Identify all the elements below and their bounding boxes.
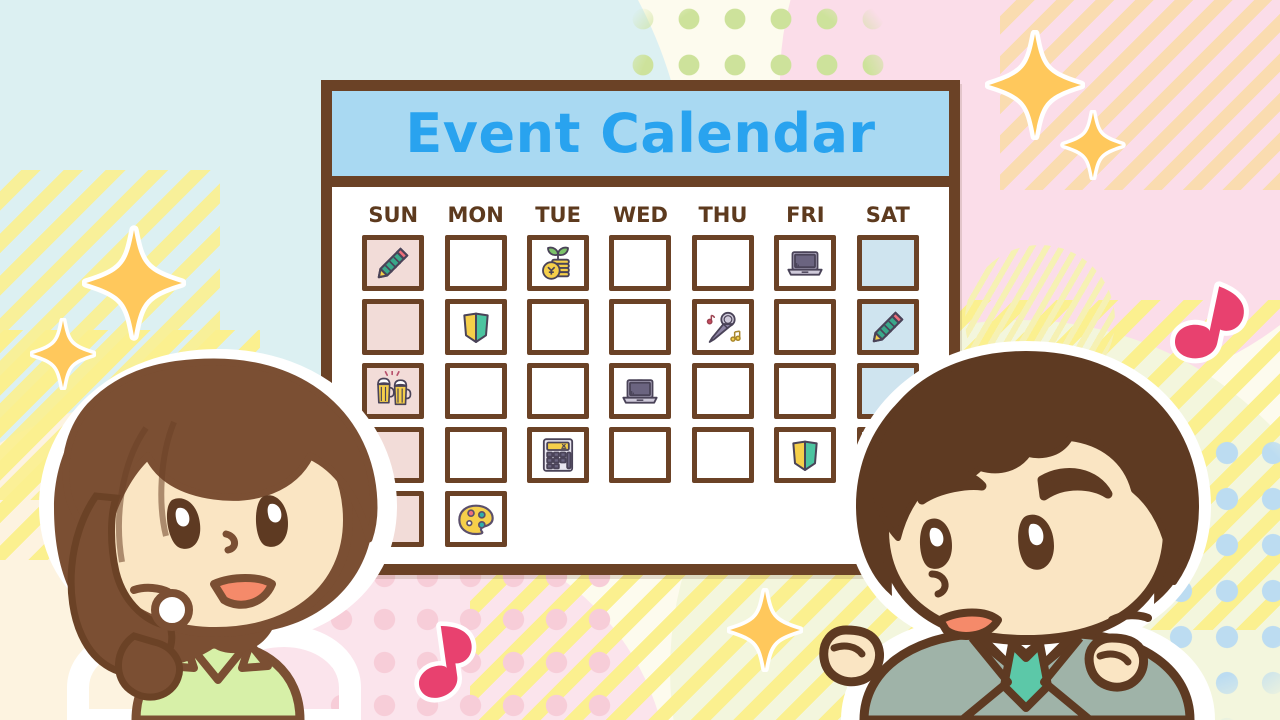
day-header-mon: MON — [434, 203, 516, 235]
calendar-cell-sat-w1[interactable] — [857, 235, 919, 291]
day-header-thu: THU — [682, 203, 764, 235]
calendar-cell-thu-w2[interactable] — [692, 299, 754, 355]
day-header-fri: FRI — [764, 203, 846, 235]
calendar-cell-mon-w2[interactable] — [445, 299, 507, 355]
calendar-cell-thu-w3[interactable] — [692, 363, 754, 419]
calendar-cell-wrapper — [434, 491, 516, 547]
calendar-cell-wrapper — [682, 363, 764, 419]
day-header-wed: WED — [599, 203, 681, 235]
calendar-cell-tue-w2[interactable] — [527, 299, 589, 355]
calendar-cell-sun-w1[interactable] — [362, 235, 424, 291]
calendar-cell-tue-w1[interactable] — [527, 235, 589, 291]
woman-character — [18, 336, 418, 720]
calendar-cell-mon-w1[interactable] — [445, 235, 507, 291]
pencil-icon — [373, 243, 413, 283]
calendar-cell-wrapper — [352, 235, 434, 291]
calendar-cell-mon-w5[interactable] — [445, 491, 507, 547]
money-sprout-icon — [538, 243, 578, 283]
calendar-cell-wrapper — [599, 235, 681, 291]
calendar-cell-wrapper — [434, 235, 516, 291]
man-character — [812, 338, 1232, 720]
calendar-cell-wrapper — [517, 363, 599, 419]
calendar-cell-wrapper — [517, 235, 599, 291]
day-header-sat: SAT — [847, 203, 929, 235]
calendar-cell-wrapper — [682, 427, 764, 483]
sparkle-icon — [82, 225, 186, 341]
calendar-cell-blank — [692, 491, 754, 547]
calendar-cell-wed-w3[interactable] — [609, 363, 671, 419]
calendar-cell-wrapper — [599, 427, 681, 483]
calendar-cell-wrapper — [599, 363, 681, 419]
calendar-cell-wed-w2[interactable] — [609, 299, 671, 355]
day-header-tue: TUE — [517, 203, 599, 235]
day-header-row: SUN MON TUE WED THU FRI SAT — [352, 203, 929, 235]
calendar-cell-wrapper — [434, 427, 516, 483]
calendar-title-band: Event Calendar — [332, 91, 949, 187]
sparkle-icon — [727, 588, 803, 672]
calendar-cell-tue-w3[interactable] — [527, 363, 589, 419]
calendar-cell-thu-w1[interactable] — [692, 235, 754, 291]
calendar-cell-wed-w4[interactable] — [609, 427, 671, 483]
calendar-cell-wrapper — [599, 491, 681, 547]
calendar-cell-blank — [609, 491, 671, 547]
microphone-icon — [703, 307, 743, 347]
screen-root: Event Calendar SUN MON TUE WED THU FRI S… — [0, 0, 1280, 720]
calendar-cell-mon-w4[interactable] — [445, 427, 507, 483]
laptop-icon — [620, 371, 660, 411]
calendar-cell-wrapper — [434, 363, 516, 419]
calendar-cell-wrapper — [764, 235, 846, 291]
paint-palette-icon — [456, 499, 496, 539]
calendar-cell-blank — [527, 491, 589, 547]
calendar-cell-wrapper — [847, 235, 929, 291]
calendar-cell-wrapper — [682, 299, 764, 355]
beginner-mark-icon — [456, 307, 496, 347]
calendar-cell-tue-w4[interactable] — [527, 427, 589, 483]
calendar-cell-wrapper — [517, 427, 599, 483]
sparkle-icon — [1060, 110, 1126, 180]
calendar-cell-mon-w3[interactable] — [445, 363, 507, 419]
calendar-cell-wrapper — [517, 491, 599, 547]
calendar-cell-wrapper — [434, 299, 516, 355]
day-header-sun: SUN — [352, 203, 434, 235]
calendar-cell-thu-w4[interactable] — [692, 427, 754, 483]
laptop-icon — [785, 243, 825, 283]
calendar-cell-fri-w1[interactable] — [774, 235, 836, 291]
calendar-cell-wrapper — [682, 491, 764, 547]
calendar-cell-wrapper — [599, 299, 681, 355]
calendar-cell-wed-w1[interactable] — [609, 235, 671, 291]
calendar-cell-wrapper — [517, 299, 599, 355]
calendar-cell-wrapper — [682, 235, 764, 291]
calculator-icon — [538, 435, 578, 475]
page-title: Event Calendar — [405, 107, 875, 161]
